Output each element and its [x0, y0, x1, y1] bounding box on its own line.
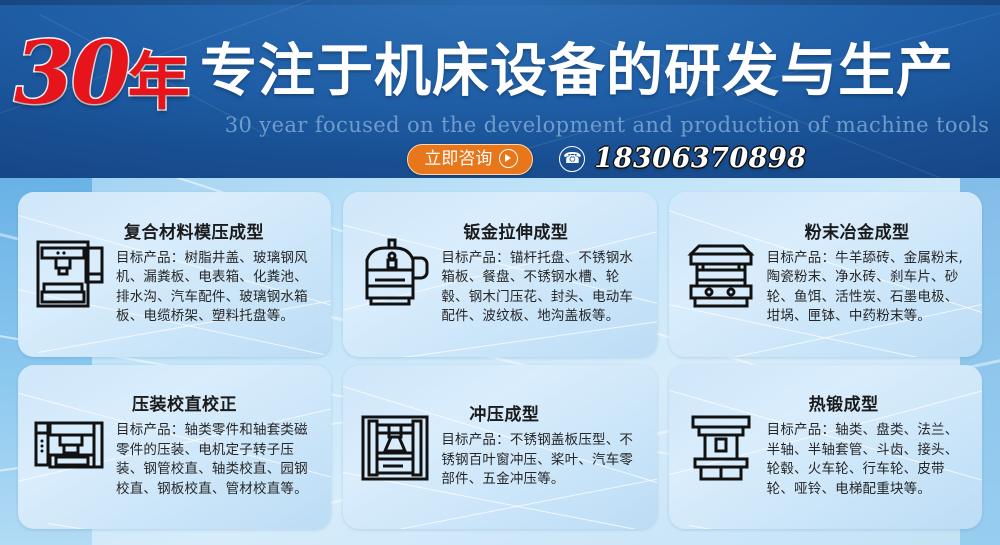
- card-composite-molding[interactable]: 复合材料模压成型 目标产品：树脂井盖、玻璃钢风机、漏粪板、电表箱、化粪池、排水沟…: [18, 192, 331, 357]
- card-title: 钣金拉伸成型: [463, 222, 642, 244]
- card-hot-forging[interactable]: 热锻成型 目标产品：轴类、盘类、法兰、半轴、半轴套管、斗齿、接头、轮毂、火车轮、…: [669, 365, 982, 530]
- page-title: 专注于机床设备的研发与生产: [200, 38, 1000, 104]
- card-description: 目标产品：树脂井盖、玻璃钢风机、漏粪板、电表箱、化粪池、排水沟、汽车配件、玻璃钢…: [116, 249, 317, 327]
- card-title: 压装校直校正: [132, 394, 317, 416]
- card-text: 钣金拉伸成型 目标产品：锚杆托盘、不锈钢水箱板、餐盘、不锈钢水槽、轮毂、钢木门压…: [441, 222, 646, 327]
- card-text: 冲压成型 目标产品：不锈钢盖板压型、不锈钢百叶窗冲压、桨叶、汽车零部件、五金冲压…: [441, 404, 646, 490]
- card-text: 复合材料模压成型 目标产品：树脂井盖、玻璃钢风机、漏粪板、电表箱、化粪池、排水沟…: [116, 222, 321, 327]
- play-arrow-icon: [499, 149, 518, 168]
- card-title: 复合材料模压成型: [124, 222, 317, 244]
- card-description: 目标产品：牛羊舔砖、金属粉末,陶瓷粉末、净水砖、刹车片、砂轮、鱼饵、活性炭、石墨…: [767, 249, 968, 327]
- years-unit: 年: [128, 45, 190, 118]
- hydraulic-press-icon: [24, 228, 116, 320]
- phone-block[interactable]: ☎ 18306370898: [559, 144, 806, 174]
- card-description: 目标产品：锚杆托盘、不锈钢水箱板、餐盘、不锈钢水槽、轮毂、钢木门压花、封头、电动…: [441, 249, 642, 327]
- years-number: 30: [14, 23, 128, 124]
- phone-number: 18306370898: [594, 144, 806, 174]
- card-title: 粉末冶金成型: [805, 222, 968, 244]
- card-title: 热锻成型: [809, 394, 968, 416]
- card-description: 目标产品：不锈钢盖板压型、不锈钢百叶窗冲压、桨叶、汽车零部件、五金冲压等。: [441, 431, 642, 490]
- card-stamping[interactable]: 冲压成型 目标产品：不锈钢盖板压型、不锈钢百叶窗冲压、桨叶、汽车零部件、五金冲压…: [343, 365, 656, 530]
- years-logo: 30年: [14, 26, 204, 126]
- card-text: 粉末冶金成型 目标产品：牛羊舔砖、金属粉末,陶瓷粉末、净水砖、刹车片、砂轮、鱼饵…: [767, 222, 972, 327]
- stamping-press-icon: [349, 401, 441, 493]
- cta-row: 立即咨询 ☎ 18306370898: [222, 143, 992, 175]
- card-powder-metallurgy[interactable]: 粉末冶金成型 目标产品：牛羊舔砖、金属粉末,陶瓷粉末、净水砖、刹车片、砂轮、鱼饵…: [669, 192, 982, 357]
- card-sheet-metal-stretch[interactable]: 钣金拉伸成型 目标产品：锚杆托盘、不锈钢水箱板、餐盘、不锈钢水槽、轮毂、钢木门压…: [343, 192, 656, 357]
- consult-button[interactable]: 立即咨询: [407, 144, 533, 175]
- card-description: 目标产品：轴类、盘类、法兰、半轴、半轴套管、斗齿、接头、轮毂、火车轮、行车轮、皮…: [767, 421, 968, 499]
- sheet-metal-press-icon: [349, 228, 441, 320]
- header-top-rule: [0, 0, 1000, 5]
- phone-icon: ☎: [559, 146, 585, 172]
- card-text: 热锻成型 目标产品：轴类、盘类、法兰、半轴、半轴套管、斗齿、接头、轮毂、火车轮、…: [767, 394, 972, 499]
- consult-button-label: 立即咨询: [424, 148, 492, 170]
- cards-section: 复合材料模压成型 目标产品：树脂井盖、玻璃钢风机、漏粪板、电表箱、化粪池、排水沟…: [0, 178, 1000, 545]
- promo-banner: 30年 专注于机床设备的研发与生产 30 year focused on the…: [0, 0, 1000, 545]
- card-press-fit-straightening[interactable]: 压装校直校正 目标产品：轴类零件和轴套类磁零件的压装、电机定子转子压装、钢管校直…: [18, 365, 331, 530]
- page-subtitle: 30 year focused on the development and p…: [222, 113, 992, 137]
- straightening-press-icon: [24, 401, 116, 493]
- card-text: 压装校直校正 目标产品：轴类零件和轴套类磁零件的压装、电机定子转子压装、钢管校直…: [116, 394, 321, 499]
- powder-metallurgy-press-icon: [675, 228, 767, 320]
- forging-press-icon: [675, 401, 767, 493]
- card-description: 目标产品：轴类零件和轴套类磁零件的压装、电机定子转子压装、钢管校直、轴类校直、园…: [116, 421, 317, 499]
- card-title: 冲压成型: [469, 404, 642, 426]
- banner-header: 30年 专注于机床设备的研发与生产 30 year focused on the…: [0, 0, 1000, 178]
- cards-grid: 复合材料模压成型 目标产品：树脂井盖、玻璃钢风机、漏粪板、电表箱、化粪池、排水沟…: [0, 178, 1000, 545]
